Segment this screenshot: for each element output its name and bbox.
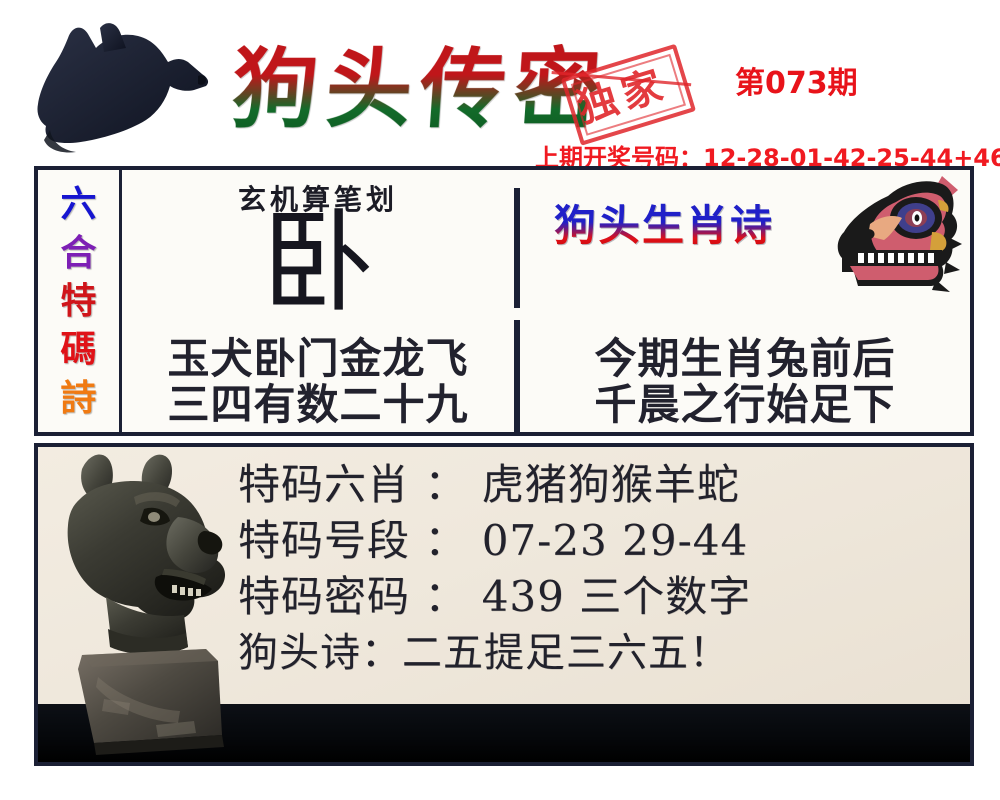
right-poem: 今期生肖兔前后 千晨之行始足下 [520, 336, 970, 428]
left-poem-line-2: 三四有数二十九 [122, 382, 514, 428]
poster-header: 狗头传密 独 家 第073期 上期开奖号码：12-28-01-42-25-44+… [0, 0, 1000, 160]
vlabel-char-3: 特 [60, 281, 96, 321]
bottom-line-3: 特码密码 ： 439 三个数字 [238, 569, 964, 625]
title-char-1: 狗 [229, 42, 324, 138]
vertical-label-liuhe-temashi: 六 合 特 碼 詩 [38, 170, 122, 432]
left-poem-line-1: 玉犬卧门金龙飞 [122, 336, 514, 382]
title-char-3: 传 [417, 42, 512, 138]
issue-number: 第073期 [735, 58, 858, 102]
right-poem-line-2: 千晨之行始足下 [520, 382, 970, 428]
title-char-4: 密 [511, 42, 606, 138]
vlabel-char-4: 碼 [60, 329, 96, 369]
bottom-line-4: 狗头诗：二五提足三六五！ [238, 625, 964, 681]
vlabel-char-1: 六 [60, 184, 96, 224]
left-poem: 玉犬卧门金龙飞 三四有数二十九 [122, 336, 514, 428]
bottom-line-2: 特码号段 ： 07-23 29-44 [238, 513, 964, 569]
vlabel-char-5: 詩 [60, 378, 96, 418]
poster-root: 狗头传密 独 家 第073期 上期开奖号码：12-28-01-42-25-44+… [0, 0, 1000, 800]
middle-band: 六 合 特 碼 詩 玄机算笔划 卧 玉犬卧门金龙飞 三四有数二十九 狗头生肖诗 [34, 166, 974, 436]
right-poem-line-1: 今期生肖兔前后 [520, 336, 970, 382]
calligraphy-big-char: 卧 [122, 204, 514, 322]
vlabel-char-2: 合 [60, 233, 96, 273]
dog-head-silhouette-icon [26, 18, 226, 158]
tribal-dog-head-icon [792, 174, 962, 299]
bottom-panel: 特码六肖 ： 虎猪狗猴羊蛇 特码号段 ： 07-23 29-44 特码密码 ： … [34, 443, 974, 766]
page-title: 狗头传密 [232, 42, 652, 142]
zodiac-poem-title: 狗头生肖诗 [554, 202, 774, 250]
bottom-line-1: 特码六肖 ： 虎猪狗猴羊蛇 [238, 457, 964, 513]
bottom-text-lines: 特码六肖 ： 虎猪狗猴羊蛇 特码号段 ： 07-23 29-44 特码密码 ： … [238, 457, 964, 681]
title-char-2: 头 [323, 42, 418, 138]
zodiac-poem-panel: 狗头生肖诗 [520, 170, 970, 432]
xuanji-panel: 玄机算笔划 卧 玉犬卧门金龙飞 三四有数二十九 [122, 170, 514, 432]
